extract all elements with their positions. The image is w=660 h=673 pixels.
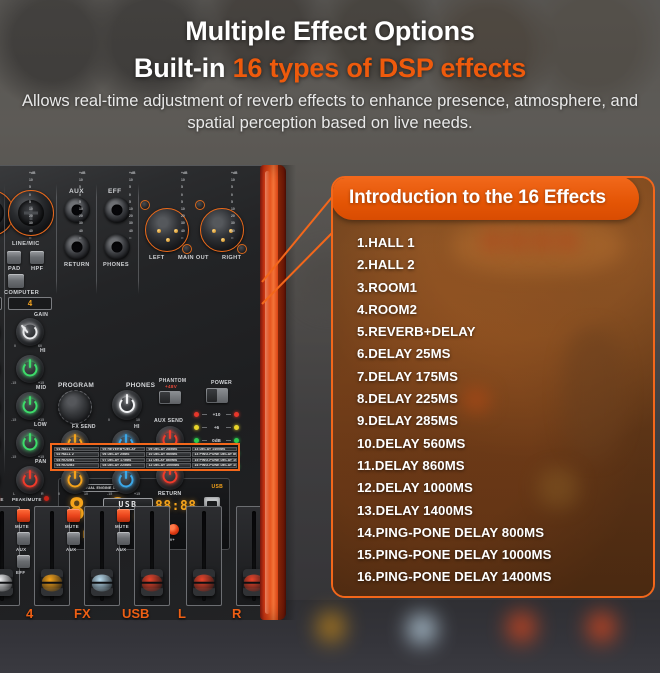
effects-list-item: 10.DELAY 560MS bbox=[357, 433, 643, 455]
fx-table-cell: 15 PING-PONE DELAY 1000MS bbox=[192, 458, 237, 463]
effects-list-item: 11.DELAY 860MS bbox=[357, 455, 643, 477]
effects-list-item: 13.DELAY 1400MS bbox=[357, 500, 643, 522]
fx-table-cell: 16 PING-PONE DELAY 1400MS bbox=[192, 463, 237, 468]
fader-cap[interactable] bbox=[0, 569, 13, 596]
aux-button-label: AUX bbox=[16, 547, 26, 552]
aux-button-label: AUX bbox=[66, 547, 76, 552]
bg-knob-blur-1 bbox=[318, 612, 344, 642]
fader-scale-tick: 10 bbox=[29, 206, 36, 213]
panel-banner: Introduction to the 16 Effects bbox=[331, 176, 639, 220]
channel-label: USB bbox=[122, 606, 149, 621]
fader-scale-tick: 20 bbox=[231, 213, 238, 220]
fader-scale-tick: +dB bbox=[29, 170, 36, 177]
fader-scale-tick: 10 bbox=[129, 177, 136, 184]
fader-scale-tick: 5 bbox=[231, 199, 238, 206]
fader-scale-tick: 10 bbox=[181, 206, 188, 213]
fader-cap-slit bbox=[0, 581, 13, 584]
fader-channel: +dB1050510203040∞MUTEAUXEFF3 bbox=[0, 166, 22, 621]
effects-list-item: 1.HALL 1 bbox=[357, 232, 643, 254]
bg-knob-blur-3 bbox=[508, 612, 535, 642]
channel-label: FX bbox=[74, 606, 91, 621]
fx-table-cell: 07 DELAY 175MS bbox=[100, 458, 145, 463]
effects-list-item: 12.DELAY 1000MS bbox=[357, 477, 643, 499]
effects-list: 1.HALL 12.HALL 23.ROOM14.ROOM25.REVERB+D… bbox=[357, 232, 643, 586]
fx-table-cell: 06 DELAY 25MS bbox=[100, 452, 145, 457]
fader-scale-tick: +dB bbox=[231, 170, 238, 177]
fx-table-cell: 14 PING-PONE DELAY 800MS bbox=[192, 452, 237, 457]
fader-scale-tick: ∞ bbox=[181, 235, 188, 242]
fader-scale-tick: 40 bbox=[129, 228, 136, 235]
page-subtitle-headline: Built-in 16 types of DSP effects bbox=[0, 51, 660, 86]
fx-table-cell: 03 ROOM1 bbox=[54, 458, 99, 463]
effects-list-item: 7.DELAY 175MS bbox=[357, 366, 643, 388]
fader-channel: +dB1050510203040∞L bbox=[178, 166, 224, 621]
panel-banner-title: Introduction to the 16 Effects bbox=[349, 187, 606, 209]
effects-intro-panel: Introduction to the 16 Effects 1.HALL 12… bbox=[331, 176, 655, 598]
fader-cap[interactable] bbox=[193, 569, 215, 596]
fx-table-cell: 13 DELAY 1400MS bbox=[192, 447, 237, 452]
aux-button[interactable] bbox=[67, 532, 80, 545]
fader-channel: +dB1050510203040∞MUTEAUXEFF4 bbox=[26, 166, 72, 621]
fader-scale: +dB1050510203040∞ bbox=[231, 170, 238, 242]
fader-cap[interactable] bbox=[41, 569, 63, 596]
fader-scale-tick: 5 bbox=[29, 184, 36, 191]
fader-scale-tick: 20 bbox=[181, 213, 188, 220]
infographic-canvas: Multiple Effect Options Built-in 16 type… bbox=[0, 0, 660, 673]
fader-scale-tick: 20 bbox=[129, 213, 136, 220]
bg-knob-blur-2 bbox=[408, 614, 436, 644]
fader-scale: +dB1050510203040∞ bbox=[181, 170, 188, 242]
fader-scale-tick: 10 bbox=[29, 177, 36, 184]
fader-scale-tick: 0 bbox=[129, 192, 136, 199]
effects-reference-table: 01 HALL 105 REVERB+DELAY09 DELAY 285MS13… bbox=[50, 443, 240, 471]
header: Multiple Effect Options Built-in 16 type… bbox=[0, 14, 660, 135]
fader-scale-tick: 0 bbox=[231, 192, 238, 199]
fader-scale: +dB1050510203040∞ bbox=[79, 170, 86, 242]
fader-scale-tick: 0 bbox=[79, 192, 86, 199]
aux-button-label: AUX bbox=[116, 547, 126, 552]
fader-scale: +dB1050510203040∞ bbox=[29, 170, 36, 242]
effects-list-item: 8.DELAY 225MS bbox=[357, 388, 643, 410]
fader-channel: +dB1050510203040∞MUTEAUXUSB bbox=[126, 166, 172, 621]
fader-scale-tick: 10 bbox=[231, 206, 238, 213]
aux-button[interactable] bbox=[17, 532, 30, 545]
fader-scale: +dB1050510203040∞ bbox=[129, 170, 136, 242]
effects-list-item: 15.PING-PONE DELAY 1000MS bbox=[357, 544, 643, 566]
fx-table-cell: 12 DELAY 1000MS bbox=[146, 463, 191, 468]
effects-list-item: 3.ROOM1 bbox=[357, 277, 643, 299]
eff-button-label: EFF bbox=[16, 570, 26, 575]
fader-scale-tick: 10 bbox=[79, 206, 86, 213]
fader-cap-slit bbox=[41, 581, 63, 584]
fader-channel: +dB1050510203040∞MUTEAUXFX bbox=[76, 166, 122, 621]
fader-scale-tick: 5 bbox=[181, 199, 188, 206]
fader-scale-tick: 20 bbox=[29, 213, 36, 220]
fader-cap-slit bbox=[193, 581, 215, 584]
fx-table-cell: 10 DELAY 560MS bbox=[146, 452, 191, 457]
fader-scale-tick: 0 bbox=[181, 192, 188, 199]
fader-scale-tick: 30 bbox=[29, 220, 36, 227]
fader-scale-tick: 40 bbox=[79, 228, 86, 235]
fader-scale-tick: +dB bbox=[181, 170, 188, 177]
mixer-body: MIC LINE/MIC PAD HPF HPF COMPUTER DRIVE … bbox=[0, 165, 268, 620]
mute-label: MUTE bbox=[65, 524, 79, 529]
effects-list-item: 14.PING-PONE DELAY 800MS bbox=[357, 522, 643, 544]
fader-scale-tick: ∞ bbox=[29, 235, 36, 242]
fader-scale-tick: 40 bbox=[29, 228, 36, 235]
fx-table-cell: 05 REVERB+DELAY bbox=[100, 447, 145, 452]
fader-scale-tick: ∞ bbox=[129, 235, 136, 242]
fx-table-cell: 01 HALL 1 bbox=[54, 447, 99, 452]
mute-button[interactable] bbox=[117, 509, 130, 522]
fader-cap[interactable] bbox=[141, 569, 163, 596]
fader-cap-slit bbox=[141, 581, 163, 584]
effects-list-item: 6.DELAY 25MS bbox=[357, 343, 643, 365]
mixer-drop-shadow bbox=[278, 165, 296, 620]
fx-table-cell: 04 ROOM2 bbox=[54, 463, 99, 468]
fader-scale-tick: 5 bbox=[29, 199, 36, 206]
fx-table-cell: 09 DELAY 285MS bbox=[146, 447, 191, 452]
fader-scale-tick: 10 bbox=[129, 206, 136, 213]
fader-scale-tick: 40 bbox=[181, 228, 188, 235]
fader-scale-tick: 0 bbox=[29, 192, 36, 199]
effects-list-item: 2.HALL 2 bbox=[357, 254, 643, 276]
fader-scale-tick: 10 bbox=[231, 177, 238, 184]
headline-accent: 16 types of DSP effects bbox=[233, 53, 527, 83]
effects-list-item: 5.REVERB+DELAY bbox=[357, 321, 643, 343]
bg-knob-blur-4 bbox=[588, 612, 615, 642]
channel-label: L bbox=[178, 606, 186, 621]
fader-scale-tick: ∞ bbox=[231, 235, 238, 242]
effects-list-item: 9.DELAY 285MS bbox=[357, 410, 643, 432]
fader-scale-tick: 40 bbox=[231, 228, 238, 235]
fx-table-cell: 08 DELAY 225MS bbox=[100, 463, 145, 468]
fader-scale-tick: 20 bbox=[79, 213, 86, 220]
fader-scale-tick: 10 bbox=[79, 177, 86, 184]
mute-label: MUTE bbox=[115, 524, 129, 529]
fader-scale-tick: 5 bbox=[231, 184, 238, 191]
fader-cap[interactable] bbox=[91, 569, 113, 596]
header-description: Allows real-time adjustment of reverb ef… bbox=[0, 90, 660, 135]
fader-scale-tick: 30 bbox=[129, 220, 136, 227]
fader-scale-tick: +dB bbox=[79, 170, 86, 177]
fx-table-cell: 02 HALL 2 bbox=[54, 452, 99, 457]
channel-label: R bbox=[232, 606, 241, 621]
fader-scale-tick: 5 bbox=[129, 199, 136, 206]
headline-prefix: Built-in bbox=[134, 53, 233, 83]
eff-button[interactable] bbox=[17, 555, 30, 568]
mute-button[interactable] bbox=[67, 509, 80, 522]
fader-scale-tick: 5 bbox=[129, 184, 136, 191]
fader-scale-tick: 30 bbox=[79, 220, 86, 227]
fader-cap-slit bbox=[91, 581, 113, 584]
page-title: Multiple Effect Options bbox=[0, 14, 660, 49]
fx-table-cell: 11 DELAY 860MS bbox=[146, 458, 191, 463]
fader-scale-tick: +dB bbox=[129, 170, 136, 177]
channel-label: 4 bbox=[26, 606, 33, 621]
fader-scale-tick: 30 bbox=[181, 220, 188, 227]
mute-button[interactable] bbox=[17, 509, 30, 522]
mute-label: MUTE bbox=[15, 524, 29, 529]
mixer-device: MIC LINE/MIC PAD HPF HPF COMPUTER DRIVE … bbox=[0, 165, 302, 620]
aux-button[interactable] bbox=[117, 532, 130, 545]
fader-scale-tick: 30 bbox=[231, 220, 238, 227]
fader-scale-tick: 5 bbox=[79, 199, 86, 206]
fader-scale-tick: 10 bbox=[181, 177, 188, 184]
effects-list-item: 16.PING-PONE DELAY 1400MS bbox=[357, 566, 643, 588]
fader-scale-tick: 5 bbox=[79, 184, 86, 191]
fader-scale-tick: 5 bbox=[181, 184, 188, 191]
fader-scale-tick: ∞ bbox=[79, 235, 86, 242]
effects-list-item: 4.ROOM2 bbox=[357, 299, 643, 321]
